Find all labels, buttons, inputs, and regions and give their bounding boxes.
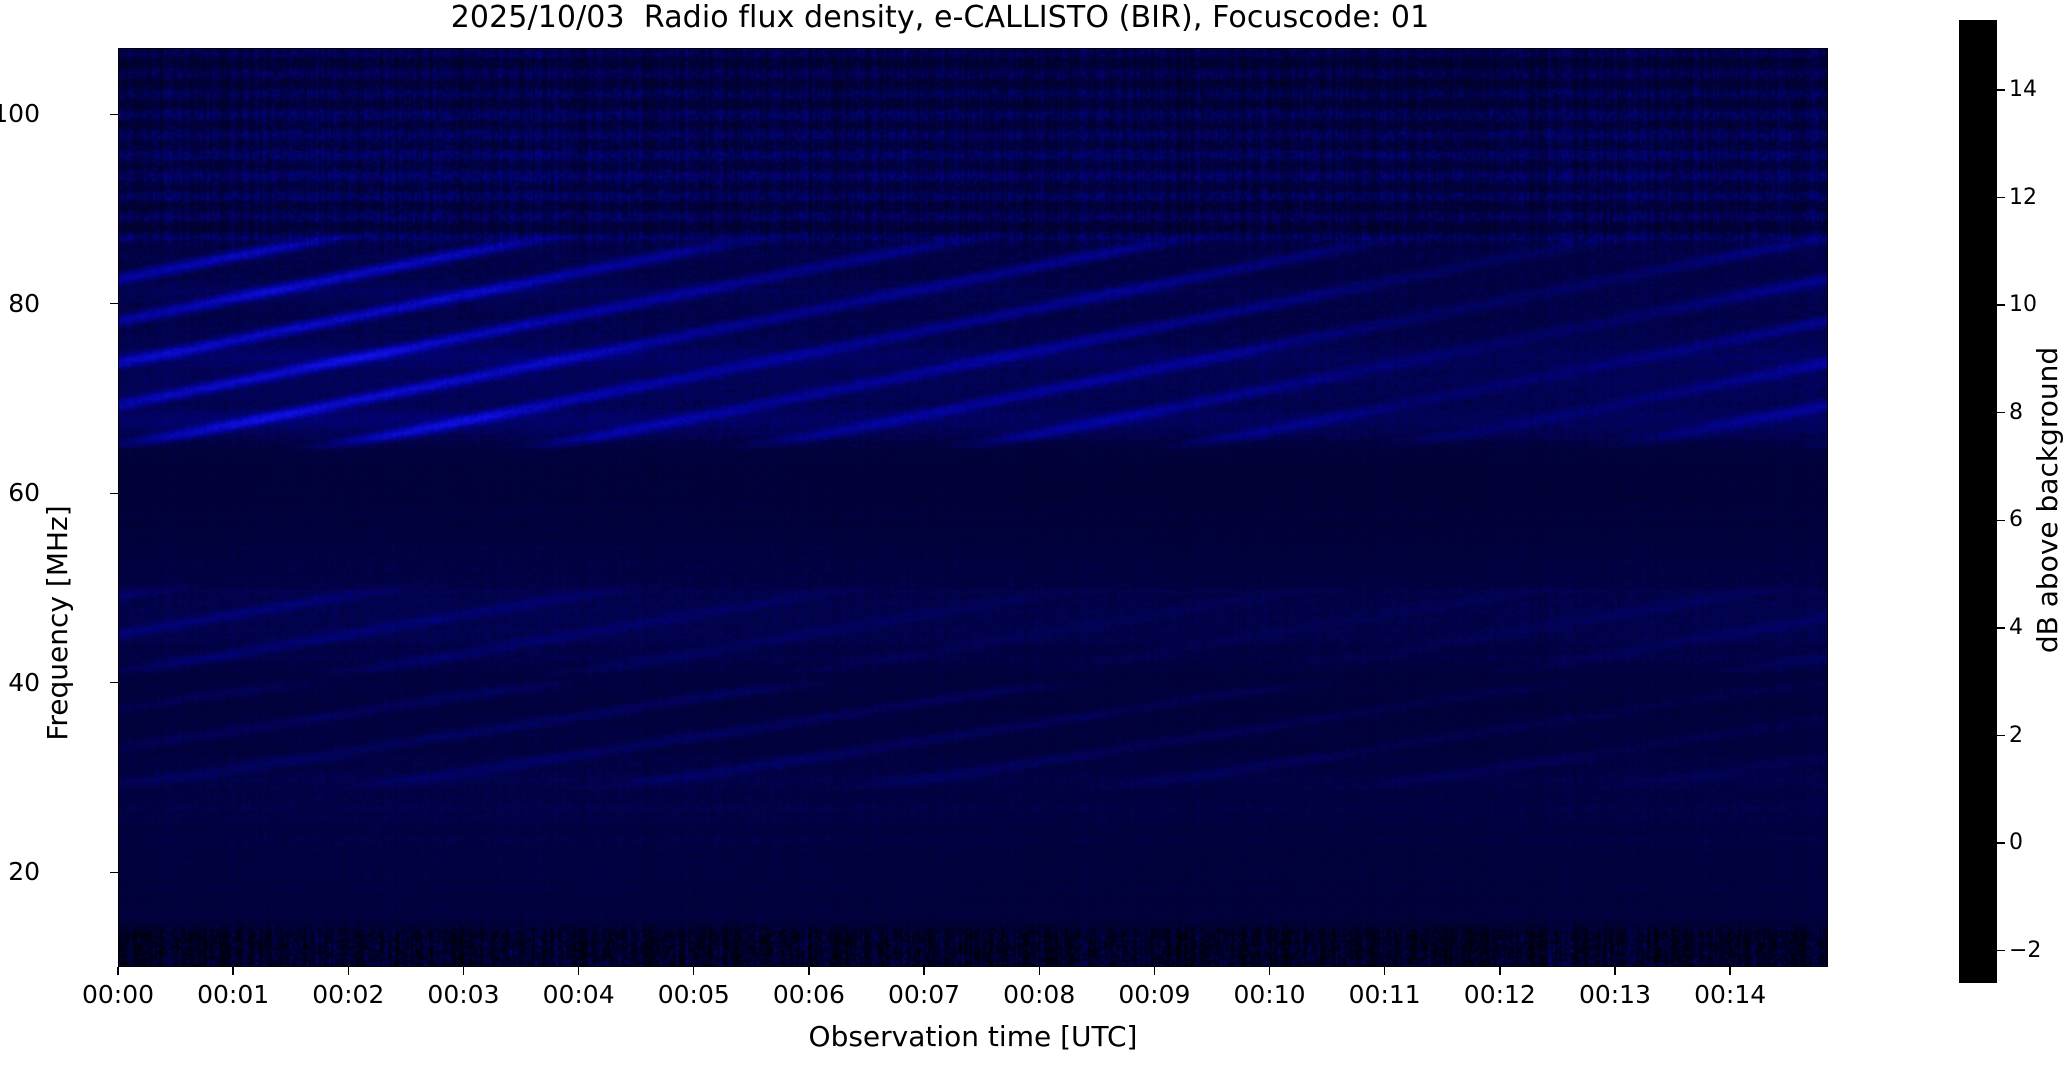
colorbar-tick-label: 14 <box>2009 79 2037 101</box>
y-tick-mark <box>110 872 118 873</box>
x-tick-label: 00:03 <box>427 981 499 1008</box>
x-tick-mark <box>463 967 464 975</box>
colorbar-tick-label: 6 <box>2009 509 2023 531</box>
x-tick-label: 00:14 <box>1694 981 1766 1008</box>
x-tick-label: 00:04 <box>543 981 615 1008</box>
colorbar-label: dB above background <box>2033 200 2063 800</box>
x-axis-label: Observation time [UTC] <box>118 1021 1828 1053</box>
colorbar-tick-mark <box>1997 950 2005 951</box>
x-tick-mark <box>1614 967 1615 975</box>
y-axis-label: Frequency [MHz] <box>43 273 73 973</box>
spectrogram-image <box>119 49 1827 966</box>
colorbar-tick-mark <box>1997 304 2005 305</box>
colorbar-tick-label: 8 <box>2009 402 2023 424</box>
x-tick-label: 00:08 <box>1003 981 1075 1008</box>
y-tick-mark <box>110 114 118 115</box>
colorbar-tick-label: −2 <box>2009 940 2041 962</box>
colorbar-label-wrap: dB above background <box>2032 200 2064 800</box>
colorbar-tick-mark <box>1997 197 2005 198</box>
x-tick-label: 00:11 <box>1349 981 1421 1008</box>
y-axis-label-wrap: Frequency [MHz] <box>8 128 42 888</box>
x-tick-mark <box>693 967 694 975</box>
colorbar-tick-mark <box>1997 842 2005 843</box>
figure-canvas: 2025/10/03 Radio flux density, e-CALLIST… <box>0 0 2066 1067</box>
x-tick-mark <box>1499 967 1500 975</box>
x-tick-label: 00:00 <box>82 981 154 1008</box>
y-tick-mark <box>110 682 118 683</box>
x-tick-mark <box>232 967 233 975</box>
colorbar-tick-mark <box>1997 89 2005 90</box>
colorbar-gradient <box>1960 21 1996 982</box>
x-tick-mark <box>1269 967 1270 975</box>
y-tick-label: 100 <box>0 101 40 126</box>
x-tick-mark <box>1154 967 1155 975</box>
x-tick-label: 00:05 <box>658 981 730 1008</box>
x-tick-label: 00:02 <box>312 981 384 1008</box>
x-tick-mark <box>578 967 579 975</box>
y-tick-mark <box>110 493 118 494</box>
x-tick-label: 00:13 <box>1579 981 1651 1008</box>
colorbar-tick-label: 4 <box>2009 617 2023 639</box>
x-tick-mark <box>1039 967 1040 975</box>
colorbar-tick-mark <box>1997 627 2005 628</box>
x-tick-mark <box>808 967 809 975</box>
colorbar[interactable] <box>1959 20 1997 983</box>
colorbar-tick-mark <box>1997 735 2005 736</box>
colorbar-tick-label: 0 <box>2009 832 2023 854</box>
x-tick-mark <box>923 967 924 975</box>
colorbar-tick-label: 2 <box>2009 725 2023 747</box>
x-tick-mark <box>348 967 349 975</box>
x-tick-mark <box>1384 967 1385 975</box>
colorbar-tick-mark <box>1997 520 2005 521</box>
x-tick-mark <box>117 967 118 975</box>
x-tick-label: 00:10 <box>1233 981 1305 1008</box>
x-tick-label: 00:01 <box>197 981 269 1008</box>
colorbar-tick-mark <box>1997 412 2005 413</box>
x-tick-label: 00:09 <box>1118 981 1190 1008</box>
x-tick-label: 00:07 <box>888 981 960 1008</box>
spectrogram-axes[interactable] <box>118 48 1828 967</box>
x-tick-label: 00:12 <box>1464 981 1536 1008</box>
y-tick-mark <box>110 303 118 304</box>
x-tick-label: 00:06 <box>773 981 845 1008</box>
chart-title: 2025/10/03 Radio flux density, e-CALLIST… <box>0 1 1880 35</box>
x-tick-mark <box>1729 967 1730 975</box>
